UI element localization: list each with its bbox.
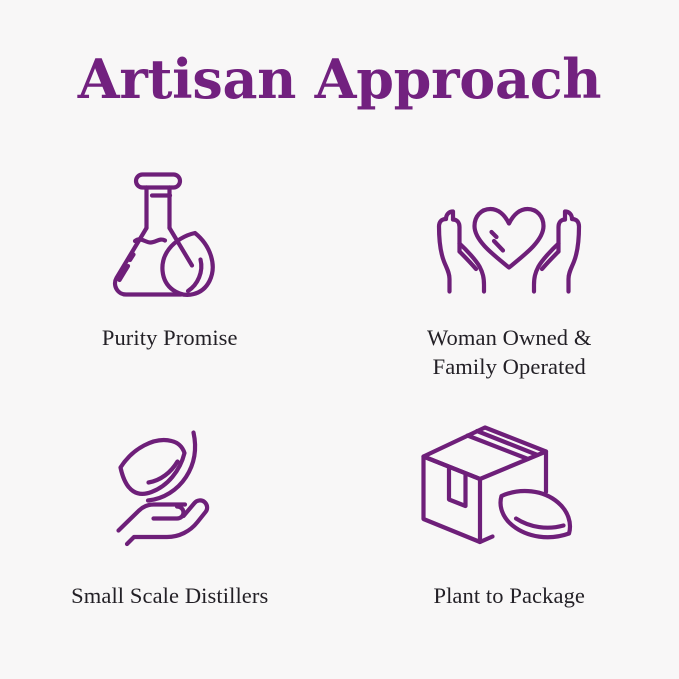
page-title: Artisan Approach: [0, 52, 679, 106]
hand-leaf-icon: [75, 420, 265, 552]
feature-item-purity-promise: Purity Promise: [0, 150, 340, 400]
feature-label: Purity Promise: [102, 324, 238, 353]
feature-label: Woman Owned & Family Operated: [427, 324, 591, 382]
feature-label: Small Scale Distillers: [71, 582, 268, 611]
hands-heart-icon: [414, 172, 604, 304]
feature-label: Plant to Package: [433, 582, 585, 611]
feature-item-small-scale-distillers: Small Scale Distillers: [0, 400, 340, 650]
flask-leaf-icon: [75, 168, 265, 300]
feature-grid: Purity Promise: [0, 150, 679, 650]
feature-item-plant-to-package: Plant to Package: [340, 400, 679, 650]
package-leaf-icon: [414, 418, 604, 550]
feature-item-woman-owned: Woman Owned & Family Operated: [340, 150, 679, 400]
artisan-approach-panel: Artisan Approach: [0, 0, 679, 679]
